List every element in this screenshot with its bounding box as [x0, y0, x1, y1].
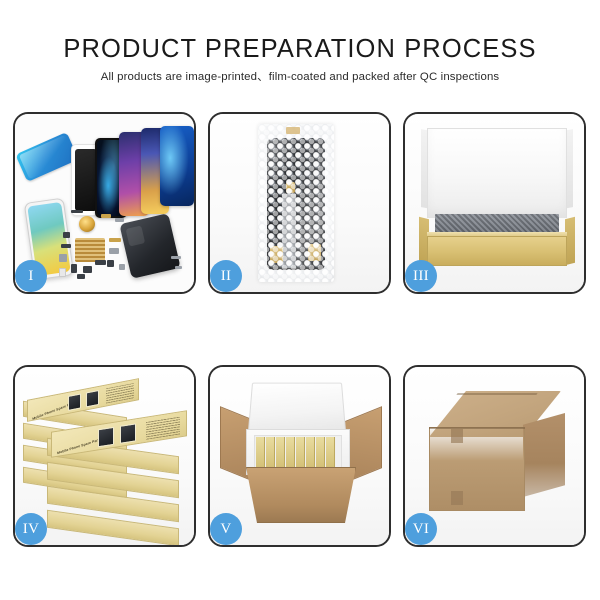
carton-side-face	[523, 413, 565, 497]
kraft-box-in-carton	[266, 437, 275, 467]
carton-seam	[429, 427, 525, 429]
kraft-box-in-carton	[286, 437, 295, 467]
spare-part	[61, 244, 71, 248]
kraft-box-in-carton	[256, 437, 265, 467]
foam-box-lid	[248, 383, 346, 434]
kraft-box-stack: Mobile Phone Spare Parts Mobile Phone Sp…	[21, 381, 193, 539]
spare-part	[59, 268, 66, 277]
kraft-box-in-carton	[296, 437, 305, 467]
phone-screen-blue-swirl	[160, 126, 194, 206]
kraft-box-in-carton	[326, 437, 335, 467]
spare-part	[83, 266, 92, 273]
step-badge-5: V	[210, 513, 242, 545]
kraft-box-window	[98, 427, 114, 448]
spare-part	[71, 264, 77, 273]
kraft-box-in-carton	[306, 437, 315, 467]
kraft-box-in-carton	[276, 437, 285, 467]
spare-part	[107, 260, 114, 267]
kraft-box-in-carton	[316, 437, 325, 467]
plastic-sheen	[258, 124, 334, 282]
circuit-board-part	[75, 238, 105, 262]
step-badge-3: III	[405, 260, 437, 292]
kraft-box-front	[427, 236, 567, 266]
kraft-box-window	[68, 393, 81, 411]
spare-part	[109, 248, 119, 254]
bubble-wrap-bag	[258, 124, 334, 282]
spare-part	[119, 264, 125, 270]
process-step-grid: I II	[13, 112, 587, 547]
carton-front-face	[429, 427, 525, 511]
kraft-box-window	[86, 390, 99, 408]
spare-part	[175, 266, 182, 269]
carton-tape-mark	[451, 491, 463, 505]
page-title: PRODUCT PREPARATION PROCESS	[0, 34, 600, 64]
product-preparation-process-page: PRODUCT PREPARATION PROCESS All products…	[0, 0, 600, 600]
panel-step-5: V	[208, 365, 391, 547]
white-foam-lid	[427, 128, 567, 218]
spare-part	[109, 238, 121, 242]
step-badge-6: VI	[405, 513, 437, 545]
carton-front-panel	[246, 467, 356, 523]
spare-part	[77, 274, 85, 279]
step-badge-1: I	[15, 260, 47, 292]
page-header: PRODUCT PREPARATION PROCESS All products…	[0, 34, 600, 85]
panel-step-4: Mobile Phone Spare Parts Mobile Phone Sp…	[13, 365, 196, 547]
panel-step-1: I	[13, 112, 196, 294]
phone-back-housing	[119, 213, 180, 279]
spare-part	[101, 214, 111, 218]
carton-tape-mark	[451, 429, 463, 443]
kraft-box-window	[120, 423, 136, 444]
carton-top-seam	[456, 393, 537, 395]
wireless-coil-part	[79, 216, 95, 232]
bag-tape	[286, 127, 300, 134]
spare-part	[115, 218, 124, 222]
spare-part	[71, 210, 83, 213]
phone-screen-blue	[15, 132, 78, 182]
spare-part	[95, 260, 106, 265]
step-badge-2: II	[210, 260, 242, 292]
page-subtitle: All products are image-printed、film-coat…	[0, 70, 600, 85]
panel-step-2: II	[208, 112, 391, 294]
step-badge-4: IV	[15, 513, 47, 545]
panel-step-3: III	[403, 112, 586, 294]
spare-part	[63, 232, 70, 238]
spare-part	[171, 256, 181, 259]
panel-step-6: VI	[403, 365, 586, 547]
spare-part	[59, 254, 67, 262]
